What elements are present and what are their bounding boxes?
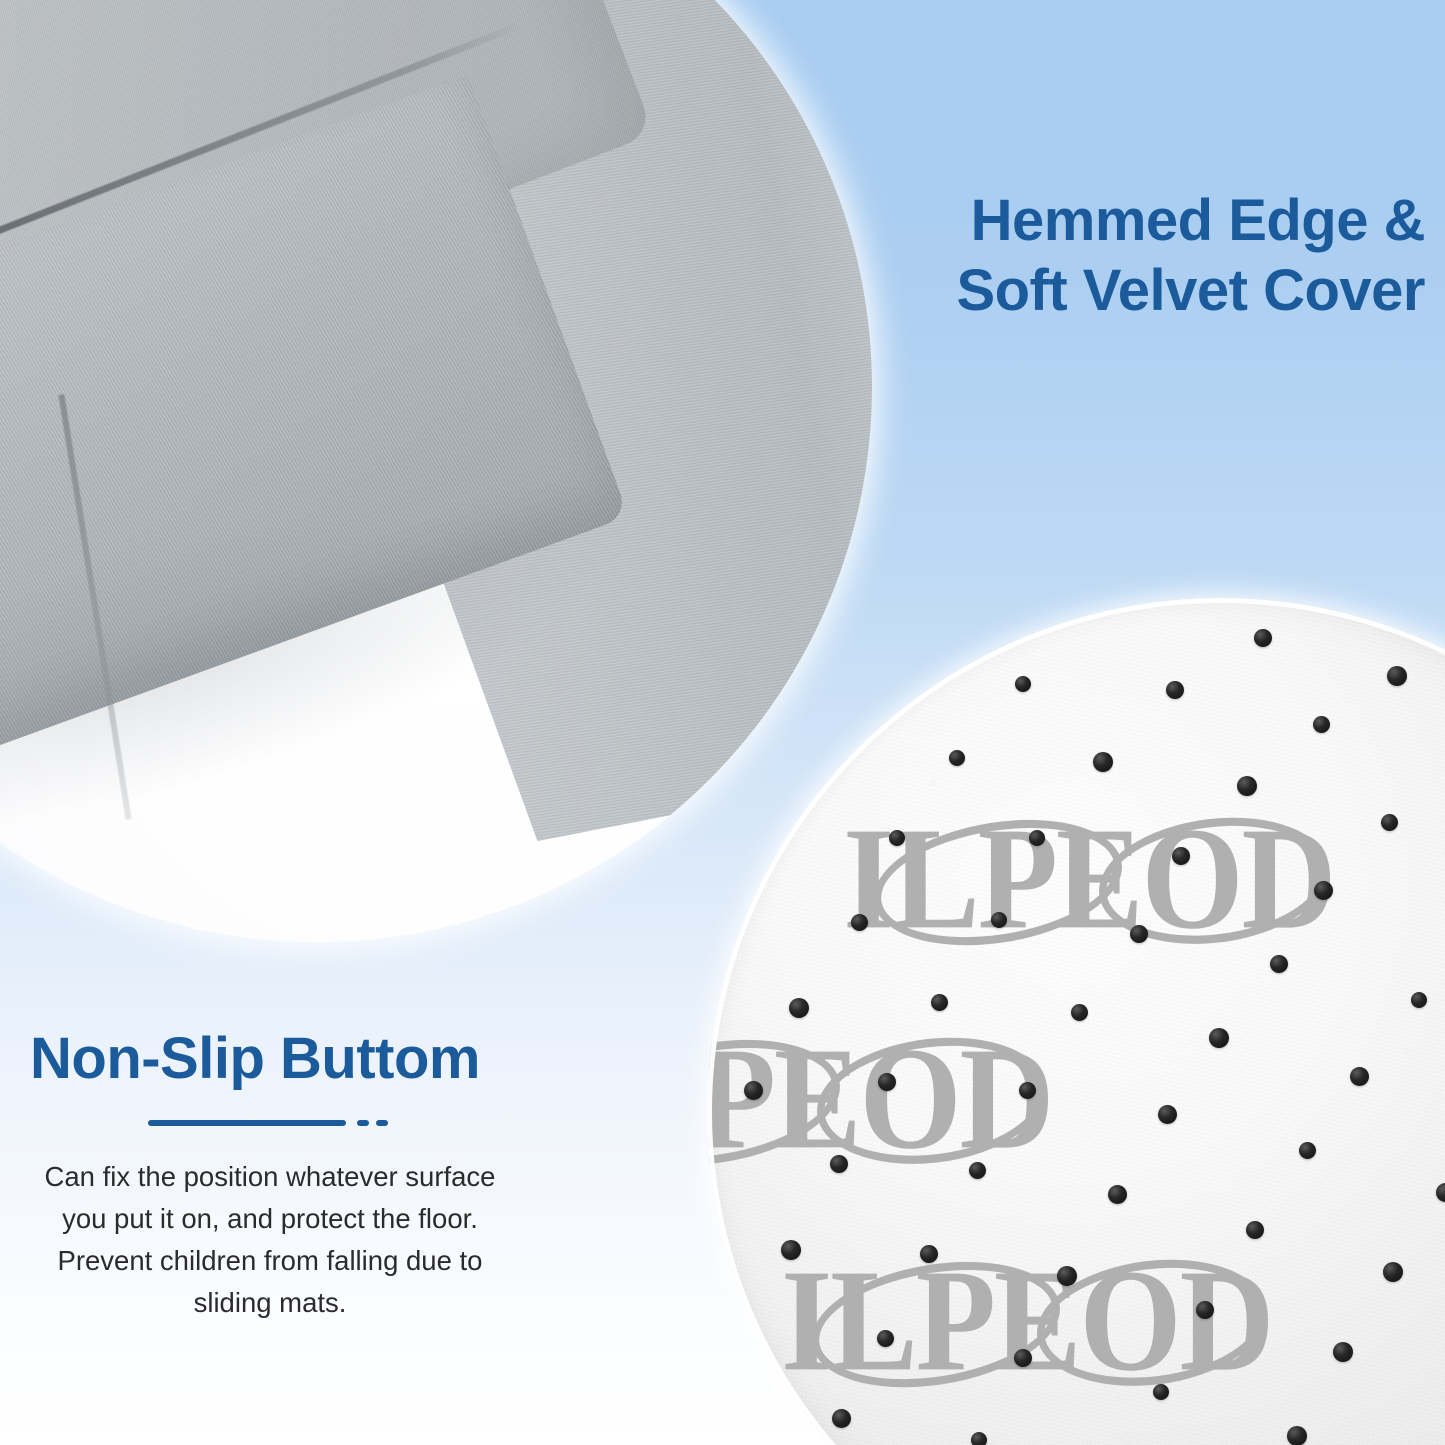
feature-description-line: sliding mats.: [14, 1282, 526, 1324]
underline-solid-segment: [148, 1120, 346, 1126]
title-underline: [148, 1120, 388, 1126]
underline-dash-1: [357, 1120, 369, 1126]
headline-line-1: Hemmed Edge &: [956, 186, 1425, 256]
feature-block: Non-Slip Buttom Can fix the position wha…: [0, 1028, 540, 1324]
velvet-cushion-corner-photo: [0, 0, 872, 942]
velvet-photo-circle: [0, 0, 872, 942]
feature-description-line: you put it on, and protect the floor.: [14, 1198, 526, 1240]
headline: Hemmed Edge & Soft Velvet Cover: [956, 186, 1425, 326]
underline-dash-2: [376, 1120, 388, 1126]
headline-line-2: Soft Velvet Cover: [956, 256, 1425, 326]
feature-title: Non-Slip Buttom: [0, 1028, 540, 1090]
feature-description: Can fix the position whatever surface yo…: [0, 1156, 540, 1324]
infographic-canvas: Hemmed Edge & Soft Velvet Cover ILPEOD I…: [0, 0, 1445, 1445]
feature-description-line: Prevent children from falling due to: [14, 1240, 526, 1282]
feature-description-line: Can fix the position whatever surface: [14, 1156, 526, 1198]
